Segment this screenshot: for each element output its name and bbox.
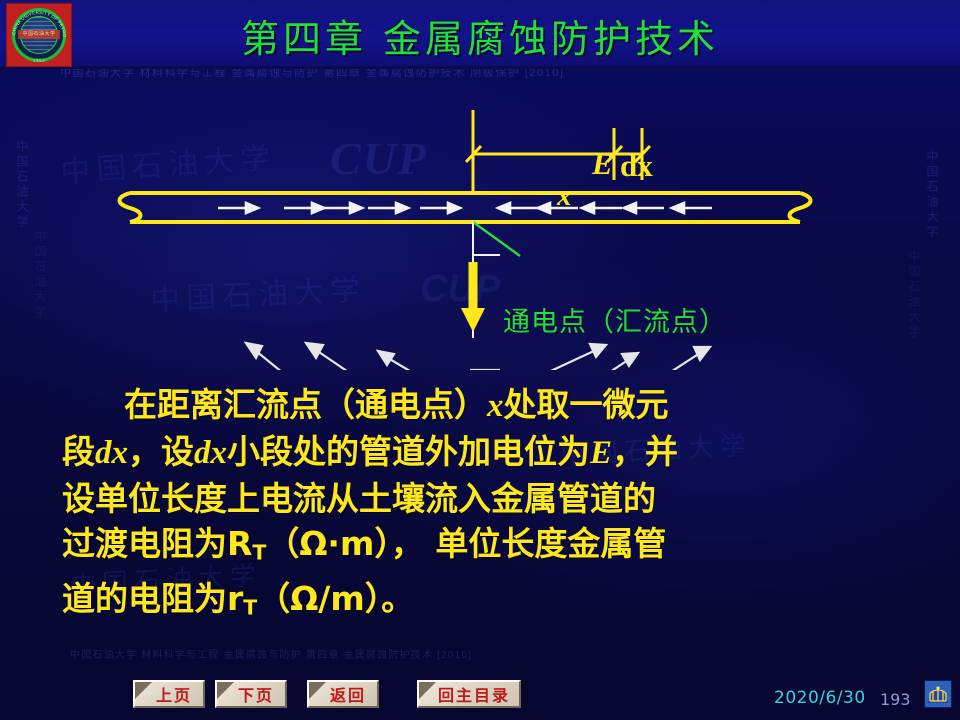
pipe-break-right-icon: [790, 193, 811, 222]
header-divider: [0, 66, 960, 69]
soil-current-arrows: [246, 343, 710, 370]
figure-svg: [0, 70, 960, 370]
body-line-2: 段dx，设dx小段处的管道外加电位为E，并: [62, 429, 900, 476]
body-text: 在距离汇流点（通电点）x处取一微元 段dx，设dx小段处的管道外加电位为E，并 …: [62, 382, 900, 630]
anode-current-arrow-down: [461, 262, 485, 332]
label-dx: dx: [620, 148, 653, 184]
slide: CUP CUP 中国石油大学 中国石油大学 中国石油大学 中国石油大学 中国石油…: [0, 0, 960, 720]
body-line-5: 道的电阻为rT（Ω/m）。: [62, 576, 900, 631]
label-E: E: [592, 146, 613, 182]
body-line-4: 过渡电阻为RT（Ω·m）， 单位长度金属管: [62, 521, 900, 576]
label-feed-point: 通电点（汇流点）: [503, 300, 727, 339]
pipe-break-left-icon: [120, 193, 141, 222]
body-line-3: 设单位长度上电流从土壤流入金属管道的: [62, 476, 900, 521]
feed-point-leader-line: [473, 222, 520, 256]
pipe-current-arrows-left: [498, 203, 712, 213]
body-line-1: 在距离汇流点（通电点）x处取一微元: [62, 382, 900, 429]
figure-cathodic-protection-diagram: E dx x 通电点（汇流点）: [0, 70, 960, 370]
footer-bar: [0, 660, 960, 720]
label-x: x: [557, 180, 572, 213]
pipe-current-arrows-right: [218, 203, 460, 213]
page-title: 第四章 金属腐蚀防护技术: [0, 8, 960, 63]
